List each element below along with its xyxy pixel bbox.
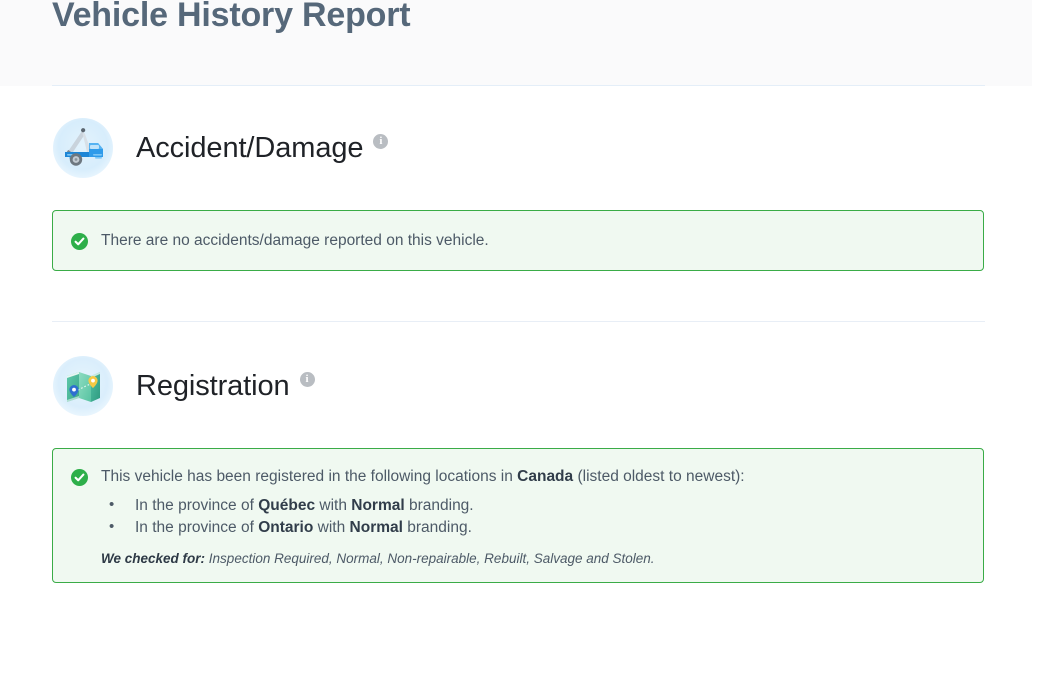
accident-damage-message: There are no accidents/damage reported o… bbox=[101, 231, 489, 251]
accident-damage-title: Accident/Damage bbox=[136, 132, 363, 165]
map-icon bbox=[52, 355, 114, 417]
registration-intro: This vehicle has been registered in the … bbox=[101, 467, 745, 487]
registration-info-icon[interactable] bbox=[300, 372, 315, 387]
location-branding: Normal bbox=[351, 497, 404, 514]
location-suffix: branding. bbox=[405, 497, 474, 514]
list-item: In the province of Ontario with Normal b… bbox=[109, 517, 965, 539]
page-title: Vehicle History Report bbox=[52, 0, 410, 35]
location-branding: Normal bbox=[350, 519, 403, 536]
registration-title: Registration bbox=[136, 370, 290, 403]
registration-intro-suffix: (listed oldest to newest): bbox=[573, 468, 744, 485]
registration-location-list: In the province of Québec with Normal br… bbox=[71, 495, 965, 539]
checked-for-label: We checked for: bbox=[101, 551, 205, 566]
check-circle-icon bbox=[71, 233, 88, 250]
checked-for-value: Inspection Required, Normal, Non-repaira… bbox=[205, 551, 655, 566]
accident-damage-header: Accident/Damage bbox=[0, 117, 1042, 179]
registration-header: Registration bbox=[0, 355, 1042, 417]
location-middle: with bbox=[313, 519, 349, 536]
location-place: Ontario bbox=[258, 519, 313, 536]
section-accident-damage: Accident/Damage There are no accidents/d… bbox=[0, 86, 1042, 271]
registration-country: Canada bbox=[517, 468, 573, 485]
location-suffix: branding. bbox=[403, 519, 472, 536]
list-item: In the province of Québec with Normal br… bbox=[109, 495, 965, 517]
report-header: Vehicle History Report bbox=[0, 0, 1032, 86]
accident-damage-info-icon[interactable] bbox=[373, 134, 388, 149]
location-middle: with bbox=[315, 497, 351, 514]
section-registration: Registration This vehicle has been regis… bbox=[0, 322, 1042, 583]
location-prefix: In the province of bbox=[135, 519, 258, 536]
registration-intro-prefix: This vehicle has been registered in the … bbox=[101, 468, 517, 485]
report-content: Accident/Damage There are no accidents/d… bbox=[0, 86, 1042, 583]
location-prefix: In the province of bbox=[135, 497, 258, 514]
tow-truck-icon bbox=[52, 117, 114, 179]
location-place: Québec bbox=[258, 497, 315, 514]
accident-damage-status-box: There are no accidents/damage reported o… bbox=[52, 210, 984, 271]
registration-status-box: This vehicle has been registered in the … bbox=[52, 448, 984, 583]
check-circle-icon bbox=[71, 469, 88, 486]
checked-for-note: We checked for: Inspection Required, Nor… bbox=[101, 551, 965, 566]
